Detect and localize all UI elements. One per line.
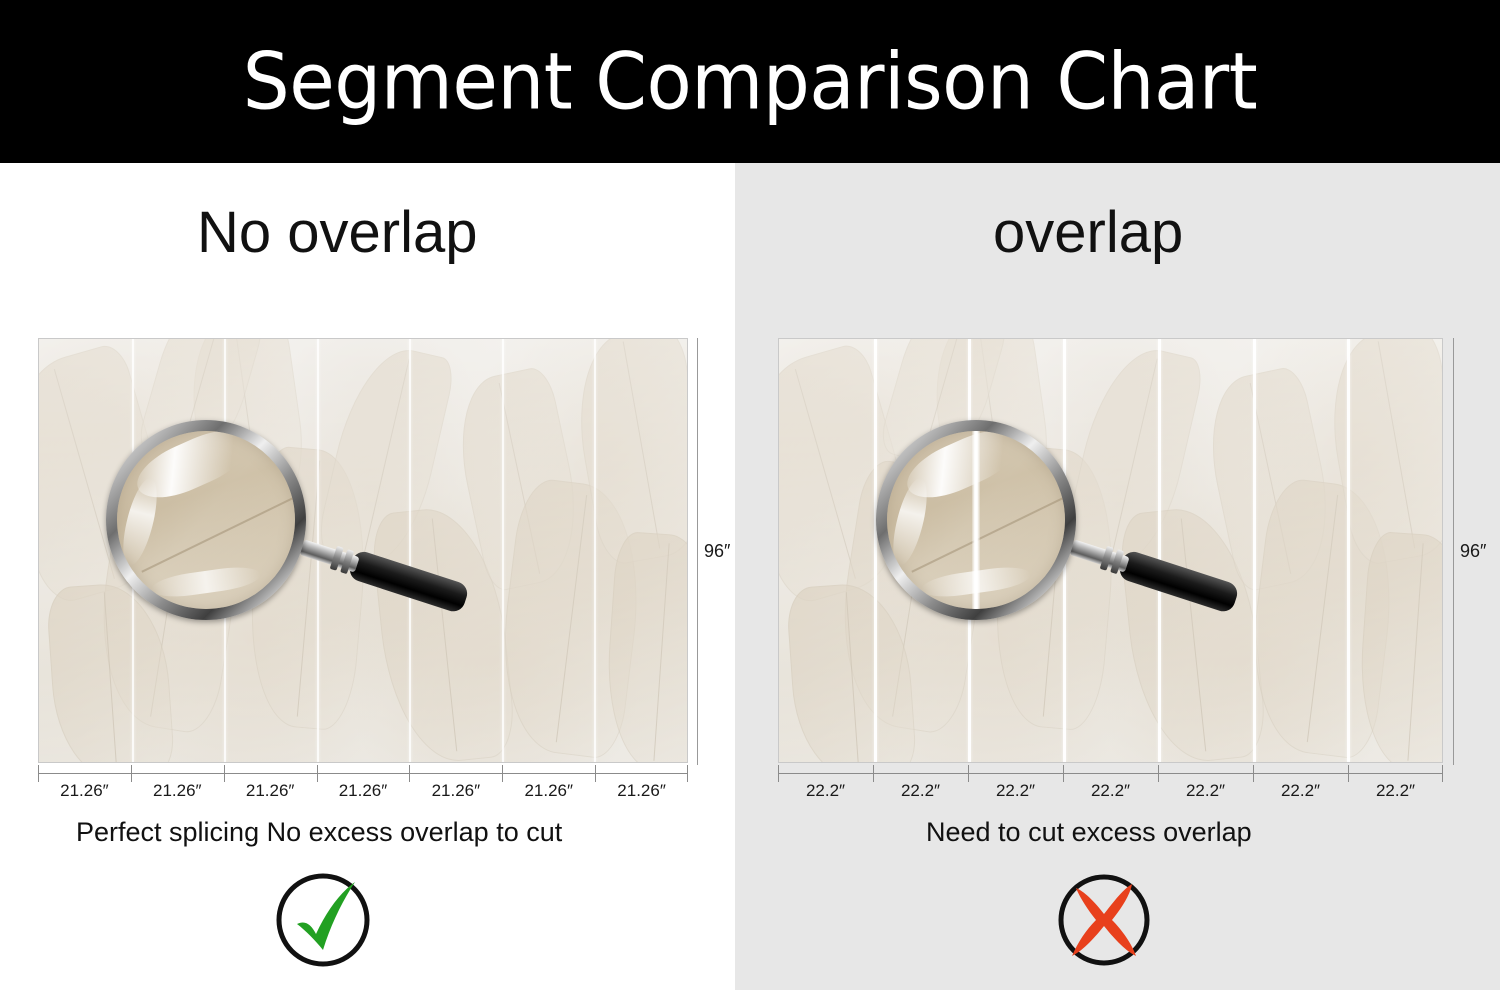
panel-title-overlap: overlap xyxy=(993,199,1183,266)
panel-no-overlap: No overlap xyxy=(0,163,735,990)
panel-seam-overlap xyxy=(1063,339,1066,762)
panel-seam-overlap xyxy=(1253,339,1256,762)
segment-label: 22.2″ xyxy=(873,781,968,801)
segment-label: 22.2″ xyxy=(968,781,1063,801)
height-rule-overlap xyxy=(1453,338,1454,765)
segment-label: 21.26″ xyxy=(38,781,131,801)
segment-label: 22.2″ xyxy=(1253,781,1348,801)
segment-label: 22.2″ xyxy=(1348,781,1443,801)
mural-image-no-overlap xyxy=(38,338,688,763)
panel-title-no-overlap: No overlap xyxy=(197,199,477,266)
segment-ruler-no-overlap: 21.26″ 21.26″ 21.26″ 21.26″ 21.26″ 21.26… xyxy=(38,765,688,809)
segment-label: 22.2″ xyxy=(1063,781,1158,801)
panel-seam xyxy=(224,339,226,762)
segment-ruler-overlap: 22.2″ 22.2″ 22.2″ 22.2″ 22.2″ 22.2″ 22.2… xyxy=(778,765,1443,809)
segment-label: 21.26″ xyxy=(595,781,688,801)
segment-label: 21.26″ xyxy=(224,781,317,801)
caption-overlap: Need to cut excess overlap xyxy=(926,817,1252,848)
panel-seam xyxy=(409,339,411,762)
segment-label: 21.26″ xyxy=(131,781,224,801)
caption-no-overlap: Perfect splicing No excess overlap to cu… xyxy=(76,817,562,848)
ruler-axis xyxy=(38,773,688,774)
panel-seam xyxy=(502,339,504,762)
segment-label: 22.2″ xyxy=(1158,781,1253,801)
cross-circle-icon xyxy=(1052,868,1156,972)
height-label-no-overlap: 96″ xyxy=(704,541,730,562)
segment-label: 21.26″ xyxy=(409,781,502,801)
panel-seam xyxy=(132,339,134,762)
segment-label: 22.2″ xyxy=(778,781,873,801)
segment-comparison-page: Segment Comparison Chart No overlap xyxy=(0,0,1500,990)
panel-seam-overlap xyxy=(874,339,877,762)
panel-seam-overlap xyxy=(968,339,971,762)
comparison-panels: No overlap xyxy=(0,163,1500,990)
panel-seam xyxy=(317,339,319,762)
segment-label: 21.26″ xyxy=(502,781,595,801)
panel-seam xyxy=(594,339,596,762)
ruler-axis xyxy=(778,773,1443,774)
page-header: Segment Comparison Chart xyxy=(0,0,1500,163)
check-circle-icon xyxy=(271,868,375,972)
mural-image-overlap xyxy=(778,338,1443,763)
mural-overlap xyxy=(778,338,1443,763)
panel-overlap: overlap xyxy=(735,163,1500,990)
height-label-overlap: 96″ xyxy=(1460,541,1486,562)
status-badge-check xyxy=(271,868,375,972)
page-title: Segment Comparison Chart xyxy=(243,42,1257,120)
panel-seam-overlap xyxy=(1158,339,1161,762)
mural-no-overlap xyxy=(38,338,688,763)
status-badge-cross xyxy=(1052,868,1156,972)
height-rule-no-overlap xyxy=(697,338,698,765)
segment-label: 21.26″ xyxy=(317,781,410,801)
panel-seam-overlap xyxy=(1347,339,1350,762)
